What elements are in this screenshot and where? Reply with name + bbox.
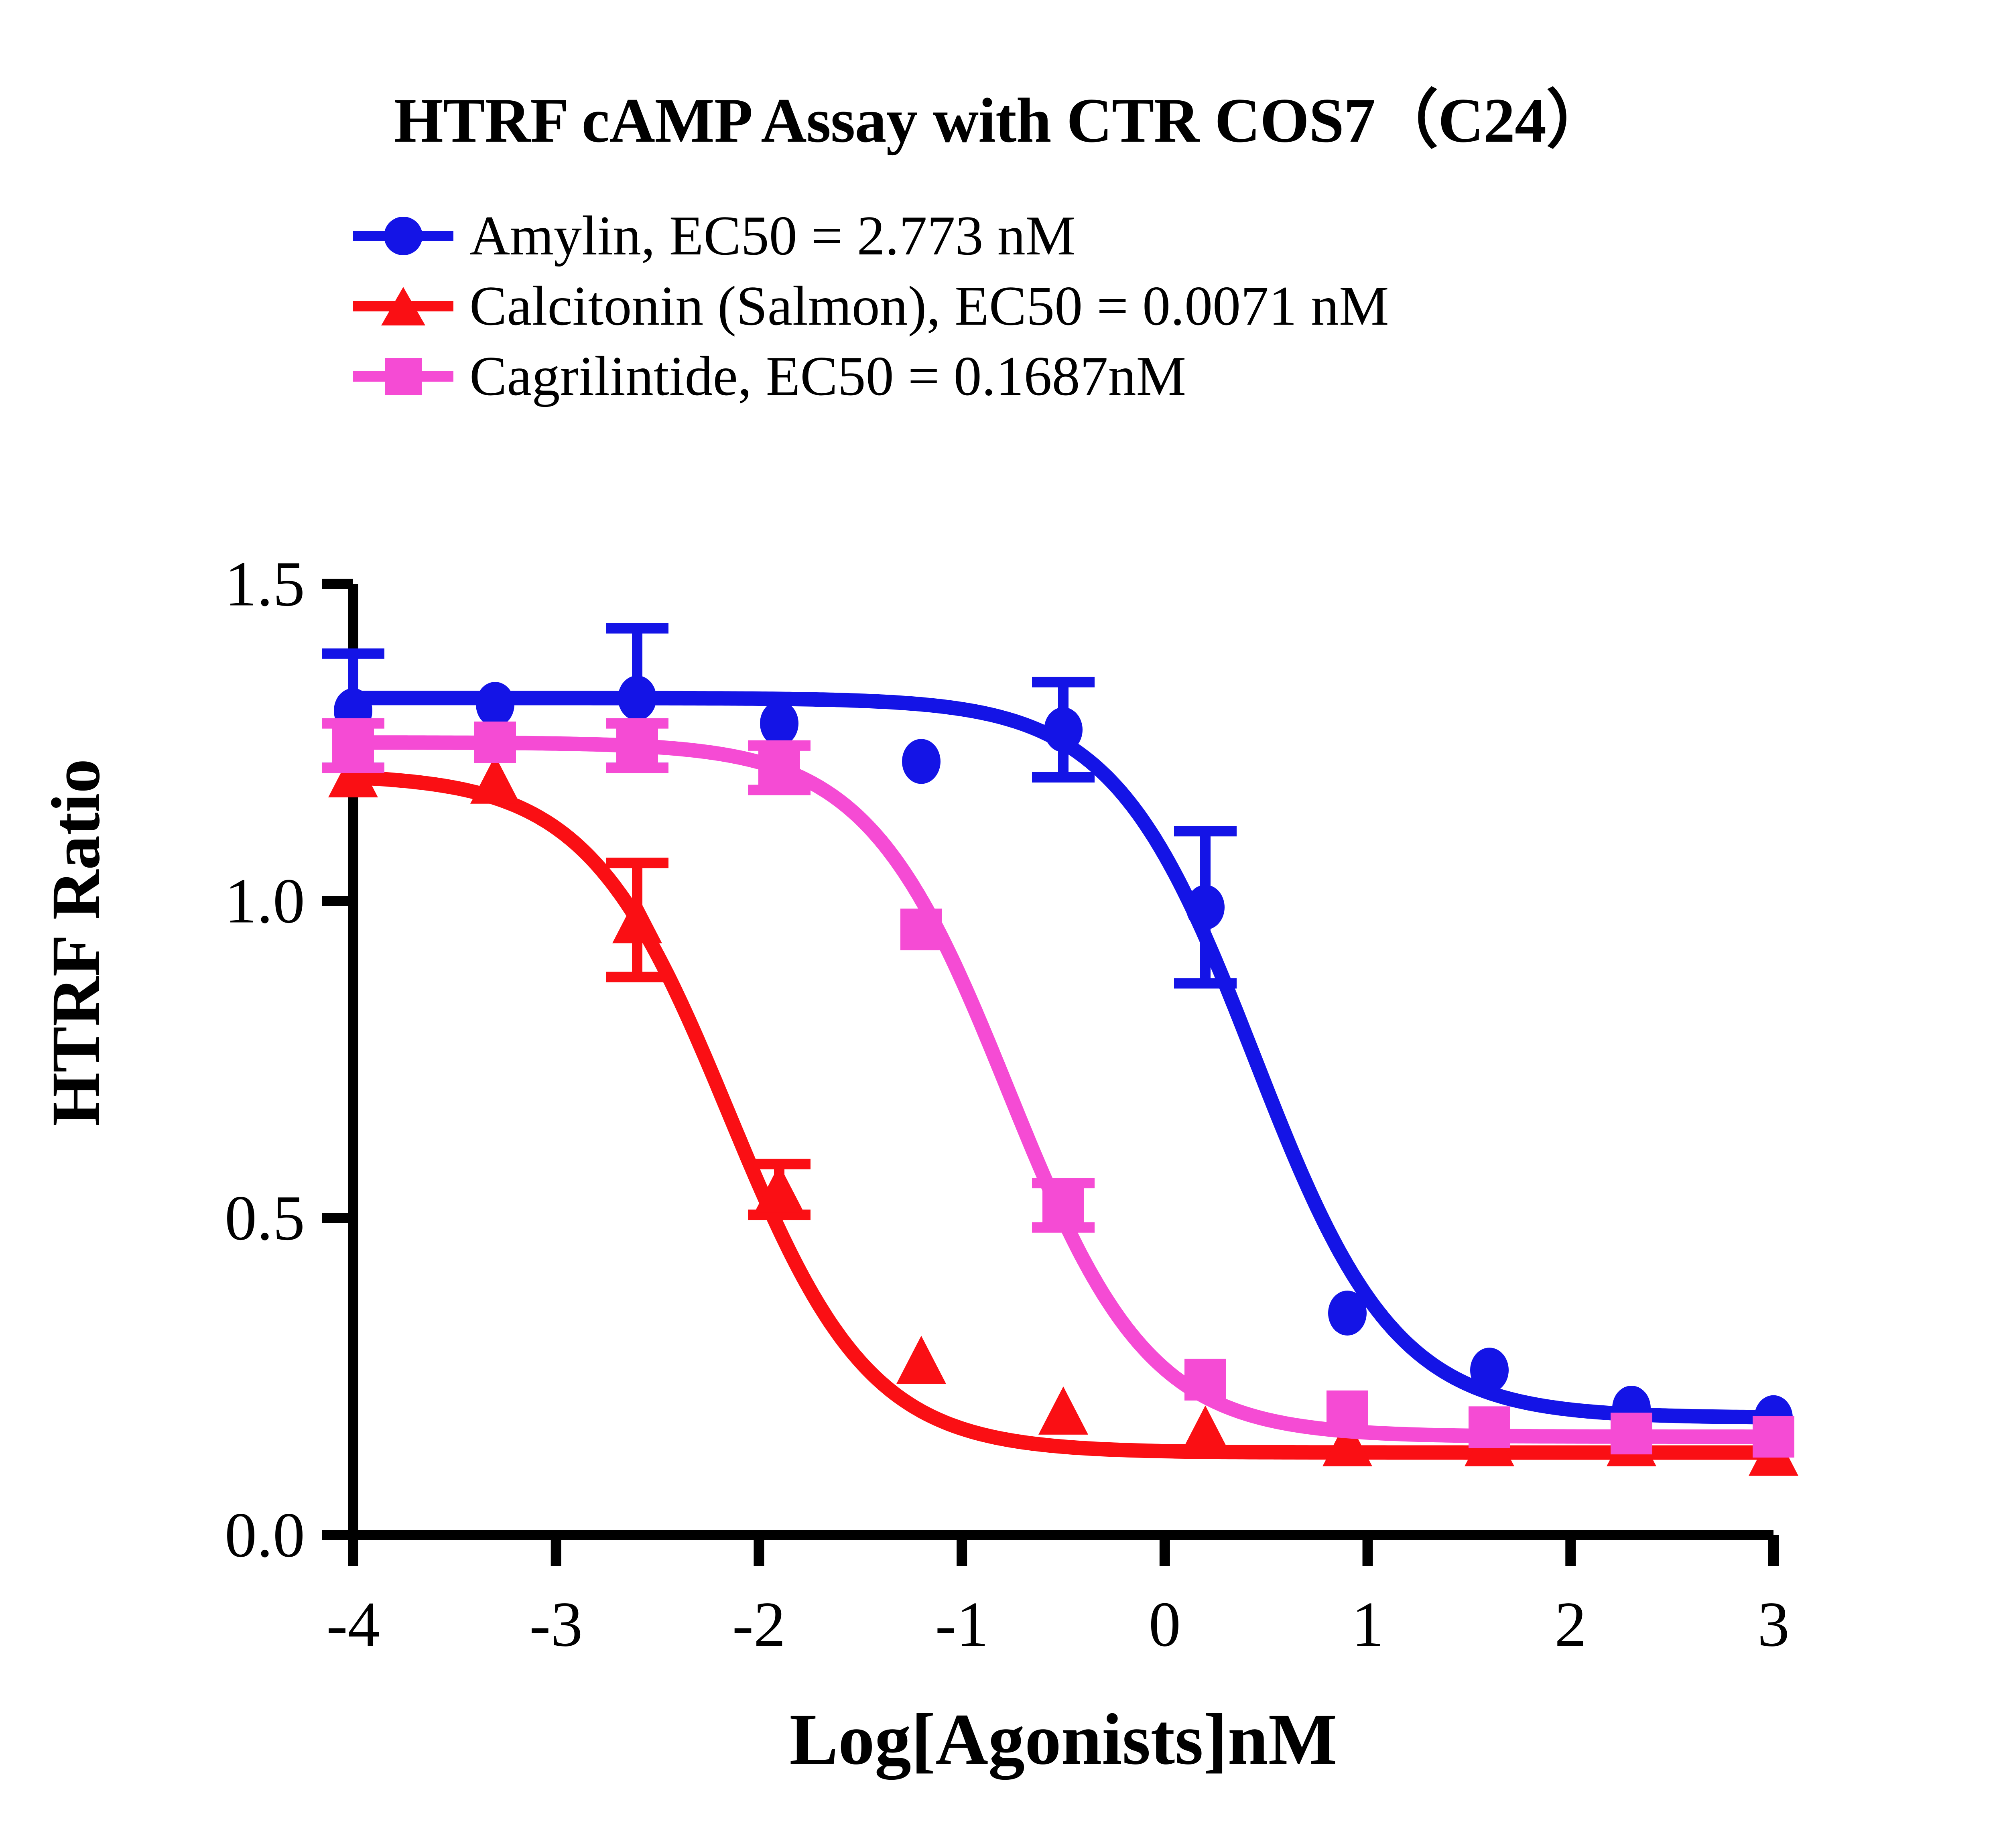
data-point-square <box>1184 1359 1226 1401</box>
y-axis-label: HTRF Ratio <box>37 642 116 1244</box>
data-point-square <box>900 909 942 950</box>
x-tick-label: 2 <box>1510 1587 1631 1661</box>
data-point-circle <box>1328 1291 1367 1336</box>
data-point-circle <box>1044 707 1083 752</box>
data-point-circle <box>476 682 514 727</box>
data-point-circle <box>902 739 941 784</box>
data-point-circle <box>1470 1348 1509 1393</box>
data-point-circle <box>760 701 798 746</box>
data-point-circle <box>1186 885 1225 930</box>
x-axis-label: Log[Agonists]nM <box>353 1698 1773 1781</box>
x-tick-label: -2 <box>699 1587 819 1661</box>
data-point-square <box>1327 1391 1368 1432</box>
x-tick-label: -1 <box>902 1587 1022 1661</box>
x-tick-label: -4 <box>293 1587 413 1661</box>
series-curve <box>353 777 1773 1452</box>
data-point-square <box>758 747 800 789</box>
data-point-triangle <box>896 1336 946 1384</box>
chart-root: HTRF cAMP Assay with CTR COS7（C24） Amyli… <box>0 0 2003 1846</box>
y-tick-label: 1.5 <box>136 547 305 621</box>
data-point-square <box>616 725 658 766</box>
y-tick-label: 0.5 <box>136 1181 305 1255</box>
y-tick-label: 1.0 <box>136 864 305 938</box>
data-point-square <box>332 725 374 766</box>
data-point-square <box>1042 1184 1084 1226</box>
x-tick-label: -3 <box>496 1587 616 1661</box>
data-point-square <box>1469 1406 1510 1448</box>
x-tick-label: 1 <box>1308 1587 1428 1661</box>
data-point-triangle <box>1038 1387 1088 1435</box>
y-tick-label: 0.0 <box>136 1498 305 1572</box>
series-cagrilintide <box>322 722 1794 1458</box>
series-calcitonin-salmon- <box>328 749 1798 1476</box>
data-point-square <box>474 722 516 763</box>
x-tick-label: 0 <box>1105 1587 1225 1661</box>
series-curve <box>353 698 1773 1417</box>
x-tick-label: 3 <box>1713 1587 1834 1661</box>
data-point-square <box>1611 1413 1652 1454</box>
data-point-circle <box>618 675 656 720</box>
data-point-square <box>1753 1416 1794 1458</box>
plot-area: HTRF Ratio Log[Agonists]nM 0.00.51.01.5-… <box>0 0 2003 1846</box>
series-curve <box>353 742 1773 1437</box>
